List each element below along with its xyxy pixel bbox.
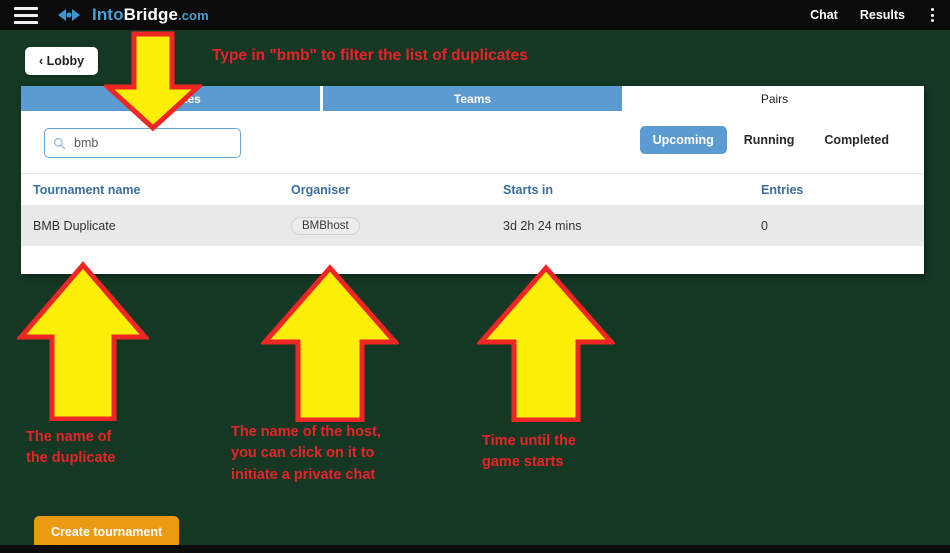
brand-title: IntoBridge.com xyxy=(92,5,209,25)
cell-tournament-name[interactable]: BMB Duplicate xyxy=(21,219,291,233)
annotation-time-until-start: Time until thegame starts xyxy=(482,431,576,474)
search-input[interactable] xyxy=(74,136,232,150)
tab-teams[interactable]: Teams xyxy=(323,86,625,111)
arrow-down-to-search xyxy=(104,31,202,132)
status-filter-group: Upcoming Running Completed xyxy=(640,126,902,154)
search-icon xyxy=(53,137,66,150)
column-header-starts-in: Starts in xyxy=(503,183,761,197)
kebab-menu-icon[interactable] xyxy=(927,6,938,24)
annotation-duplicate-name: The name ofthe duplicate xyxy=(26,427,115,470)
nav-link-results[interactable]: Results xyxy=(860,8,905,22)
table-header-row: Tournament name Organiser Starts in Entr… xyxy=(21,173,924,206)
organiser-badge[interactable]: BMBhost xyxy=(291,217,360,235)
cell-starts-in: 3d 2h 24 mins xyxy=(503,219,761,233)
annotation-host-name: The name of the host,you can click on it… xyxy=(231,422,381,486)
filter-running[interactable]: Running xyxy=(731,126,808,154)
arrow-up-to-tournament-name xyxy=(17,261,149,421)
filter-completed[interactable]: Completed xyxy=(811,126,902,154)
brand-part-com: .com xyxy=(178,8,209,23)
table-row[interactable]: BMB Duplicate BMBhost 3d 2h 24 mins 0 xyxy=(21,206,924,246)
lobby-back-button[interactable]: ‹ Lobby xyxy=(25,47,98,75)
column-header-entries: Entries xyxy=(761,183,924,197)
annotation-type-bmb: Type in "bmb" to filter the list of dupl… xyxy=(212,47,528,65)
brand-part-bridge: Bridge xyxy=(124,5,178,24)
create-tournament-button[interactable]: Create tournament xyxy=(34,516,179,548)
arrow-up-to-starts-in xyxy=(477,264,615,422)
bottom-letterbox-strip xyxy=(0,545,950,553)
nav-link-chat[interactable]: Chat xyxy=(810,8,838,22)
arrow-up-to-organiser xyxy=(261,264,399,422)
column-header-tournament-name: Tournament name xyxy=(21,183,291,197)
top-nav-links: Chat Results xyxy=(810,6,950,24)
cell-organiser: BMBhost xyxy=(291,217,503,235)
brand-part-into: Into xyxy=(92,5,124,24)
column-header-organiser: Organiser xyxy=(291,183,503,197)
cell-entries: 0 xyxy=(761,219,924,233)
top-navigation-bar: IntoBridge.com Chat Results xyxy=(0,0,950,30)
filter-upcoming[interactable]: Upcoming xyxy=(640,126,727,154)
infinity-logo-icon xyxy=(54,5,84,25)
tab-pairs[interactable]: Pairs xyxy=(625,86,924,111)
search-field-wrapper[interactable] xyxy=(44,128,241,158)
hamburger-icon[interactable] xyxy=(14,7,38,24)
panel-body: Upcoming Running Completed Tournament na… xyxy=(21,111,924,274)
